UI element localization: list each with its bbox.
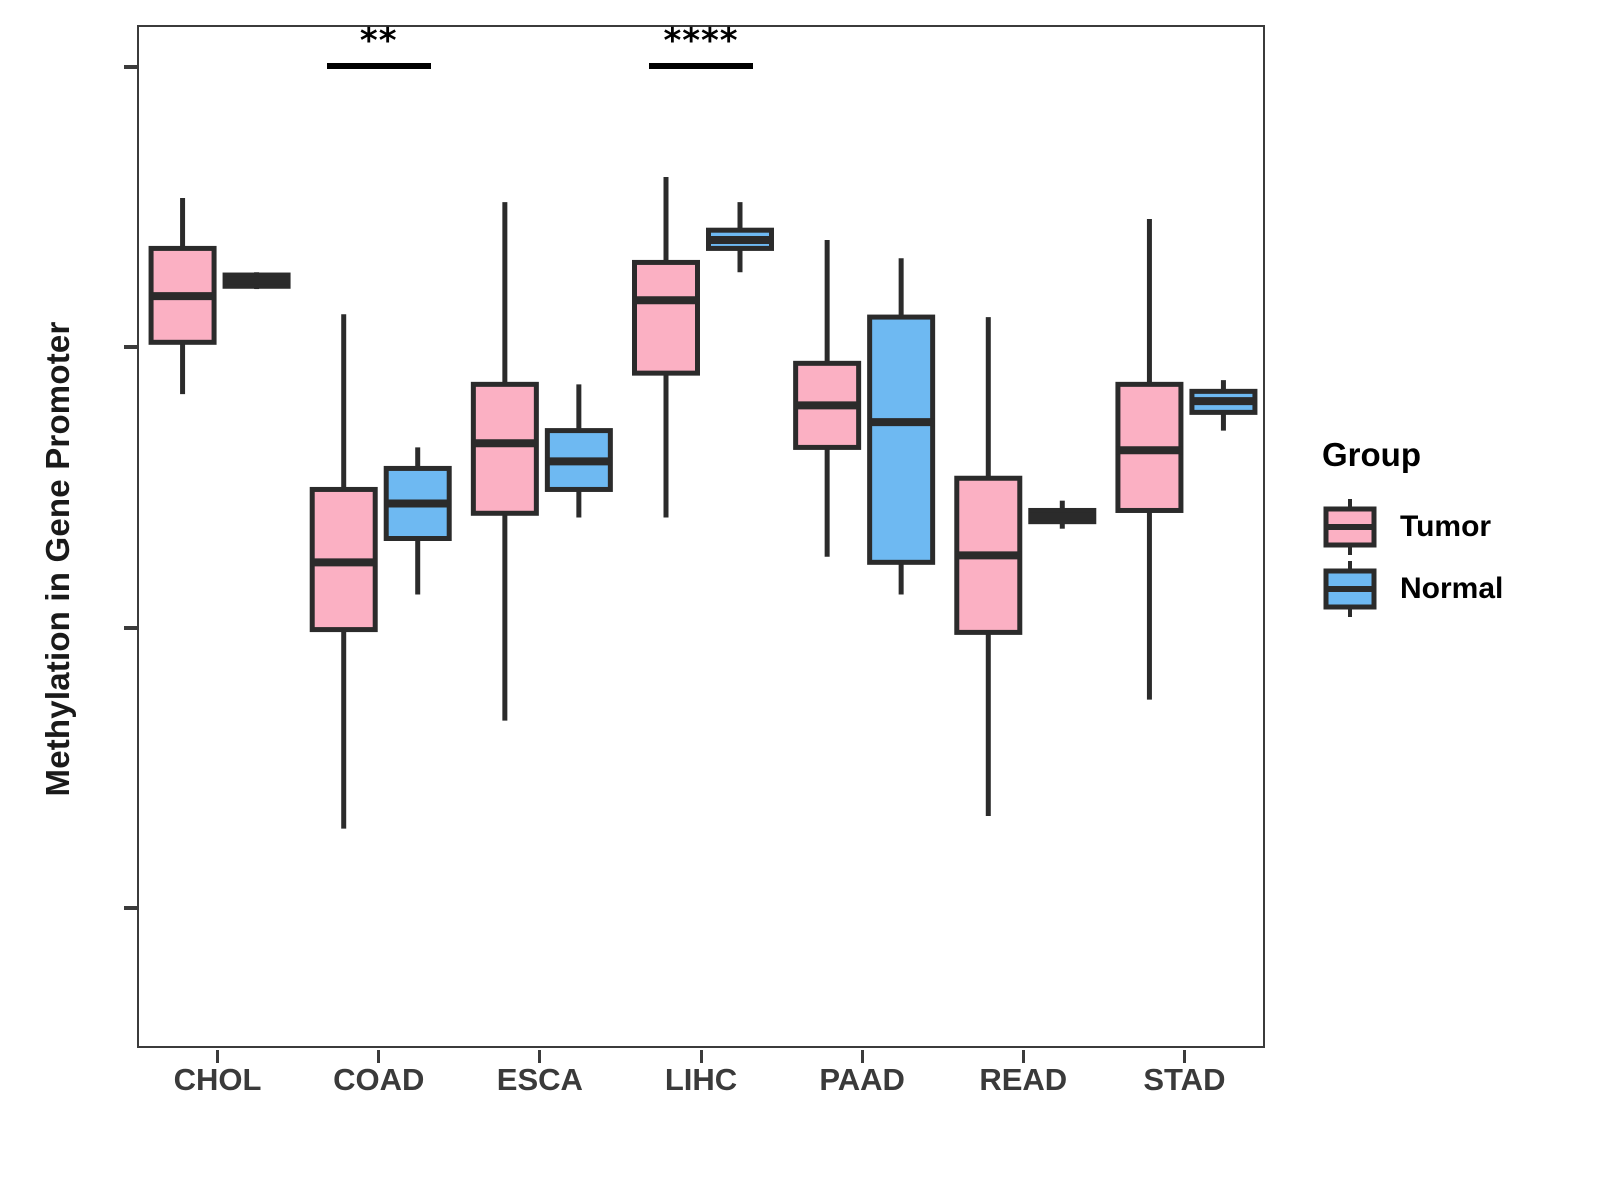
box-coad-normal	[384, 447, 451, 594]
legend: Group TumorNormal	[1320, 436, 1580, 620]
plot-panel	[137, 25, 1265, 1048]
legend-title: Group	[1322, 436, 1580, 474]
legend-items: TumorNormal	[1320, 496, 1580, 620]
box-coad-tumor	[310, 314, 377, 828]
x-tick-mark	[700, 1050, 703, 1063]
legend-label-normal: Normal	[1400, 572, 1503, 606]
x-tick-mark	[1183, 1050, 1186, 1063]
significance-stars-coad: **	[360, 21, 398, 61]
y-tick-mark	[124, 345, 137, 349]
x-tick-mark	[377, 1050, 380, 1063]
x-tick-mark	[1022, 1050, 1025, 1063]
significance-stars-lihc: ****	[663, 21, 738, 61]
x-tick-label-paad: PAAD	[772, 1062, 952, 1098]
x-tick-label-esca: ESCA	[450, 1062, 630, 1098]
boxplot-figure: Methylation in Gene Promoter 1.00.80.60.…	[0, 0, 1600, 1200]
box-paad-tumor	[794, 240, 861, 557]
legend-key-tumor-icon	[1320, 496, 1380, 558]
legend-item-normal[interactable]: Normal	[1320, 558, 1580, 620]
x-tick-label-read: READ	[933, 1062, 1113, 1098]
x-tick-mark	[538, 1050, 541, 1063]
box-esca-tumor	[471, 202, 538, 721]
x-tick-label-chol: CHOL	[128, 1062, 308, 1098]
significance-bar-lihc	[649, 63, 753, 69]
significance-bar-coad	[327, 63, 431, 69]
x-tick-label-stad: STAD	[1094, 1062, 1274, 1098]
y-tick-mark	[124, 626, 137, 630]
legend-key-normal-icon	[1320, 558, 1380, 620]
y-axis-title: Methylation in Gene Promoter	[39, 249, 77, 869]
box-read-tumor	[955, 317, 1022, 816]
box-paad-normal	[868, 258, 935, 594]
box-chol-normal	[223, 272, 290, 289]
box-stad-tumor	[1116, 219, 1183, 700]
legend-item-tumor[interactable]: Tumor	[1320, 496, 1580, 558]
x-tick-mark	[861, 1050, 864, 1063]
y-tick-mark	[124, 65, 137, 69]
box-lihc-tumor	[633, 177, 700, 518]
x-tick-label-lihc: LIHC	[611, 1062, 791, 1098]
box-read-normal	[1029, 501, 1096, 529]
box-lihc-normal	[707, 202, 774, 272]
y-tick-mark	[124, 906, 137, 910]
x-tick-mark	[216, 1050, 219, 1063]
box-chol-tumor	[149, 198, 216, 394]
box-esca-normal	[545, 384, 612, 517]
boxplot-canvas	[139, 27, 1267, 1050]
box-stad-normal	[1190, 380, 1257, 430]
legend-label-tumor: Tumor	[1400, 510, 1491, 544]
x-tick-label-coad: COAD	[289, 1062, 469, 1098]
